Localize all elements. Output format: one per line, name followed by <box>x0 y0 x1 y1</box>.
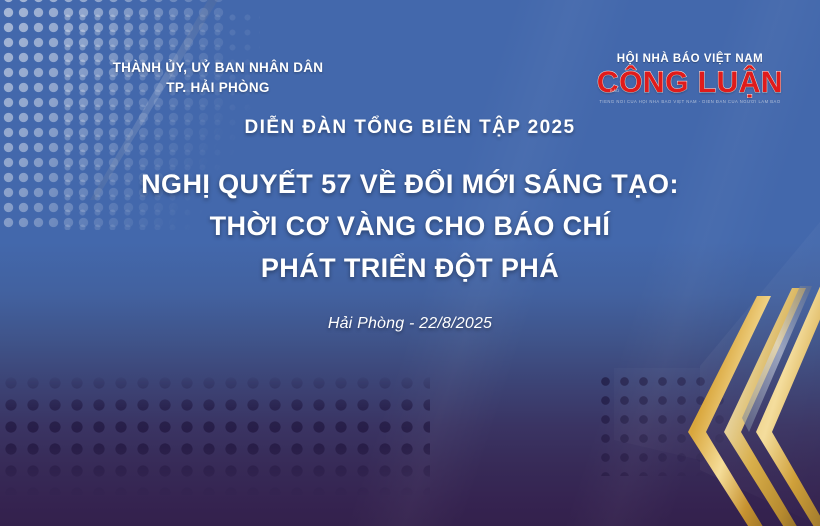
title-stack: DIỄN ĐÀN TỔNG BIÊN TẬP 2025 NGHỊ QUYẾT 5… <box>0 118 820 333</box>
organization-line-2: TP. HẢI PHÒNG <box>68 78 368 98</box>
organization-line-1: THÀNH ỦY, UỶ BAN NHÂN DÂN <box>68 58 368 78</box>
headline-line-3: PHÁT TRIỂN ĐỘT PHÁ <box>0 247 820 289</box>
corner-panel-secondary <box>614 368 700 460</box>
cong-luan-logo: HỘI NHÀ BÁO VIỆT NAM BÁO CÔNG LUẬN TIẾNG… <box>592 54 788 104</box>
headline: NGHỊ QUYẾT 57 VỀ ĐỔI MỚI SÁNG TẠO: THỜI … <box>0 163 820 289</box>
headline-line-1: NGHỊ QUYẾT 57 VỀ ĐỔI MỚI SÁNG TẠO: <box>0 163 820 205</box>
logo-tagline: TIẾNG NÓI CỦA HỘI NHÀ BÁO VIỆT NAM - DIỄ… <box>592 100 788 104</box>
event-banner: THÀNH ỦY, UỶ BAN NHÂN DÂN TP. HẢI PHÒNG … <box>0 0 820 526</box>
organization-name: THÀNH ỦY, UỶ BAN NHÂN DÂN TP. HẢI PHÒNG <box>68 58 368 97</box>
logo-kicker: HỘI NHÀ BÁO VIỆT NAM <box>592 54 788 66</box>
place-and-date: Hải Phòng - 22/8/2025 <box>0 315 820 333</box>
headline-line-2: THỜI CƠ VÀNG CHO BÁO CHÍ <box>0 205 820 247</box>
logo-wordmark: CÔNG LUẬN <box>592 68 788 98</box>
forum-name: DIỄN ĐÀN TỔNG BIÊN TẬP 2025 <box>0 118 820 139</box>
logo-micro-label: BÁO <box>610 88 620 93</box>
